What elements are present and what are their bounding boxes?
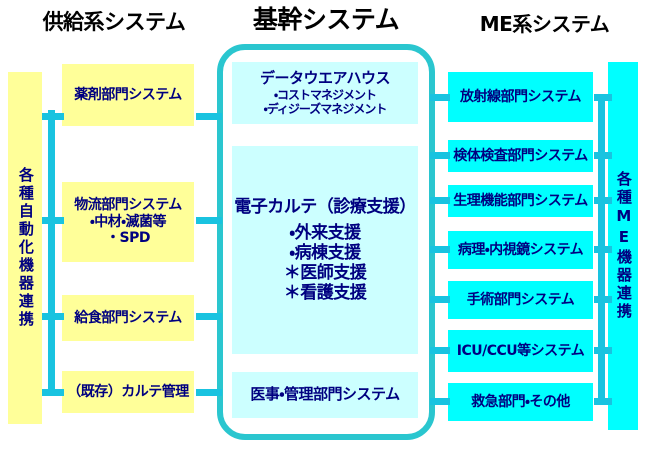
me-box-pathology-endoscope[interactable]: 病理・内視鏡システム (448, 231, 593, 269)
me-box-specimen-lab-label: 検体検査部門システム (453, 148, 588, 165)
left-vertical-bar: 各種自動化機器連携 (8, 72, 42, 424)
core-box-emr-sub4: ＊看護支援 (234, 283, 416, 303)
core-box-emr[interactable]: 電子カルテ（診療支援） ・外来支援 ・病棟支援 ＊医師支援 ＊看護支援 (232, 146, 418, 354)
diagram-canvas: 供給系システム 基幹システム ME系システム 各種自動化機器連携 各種ME機器連… (0, 0, 651, 452)
connector-catering-core (196, 313, 222, 320)
connector-physiology-bar (594, 197, 612, 204)
connector-core-radiology (430, 94, 450, 101)
me-box-specimen-lab[interactable]: 検体検査部門システム (448, 140, 593, 172)
connector-pharmacy-core (196, 113, 222, 120)
connector-core-emergency (430, 398, 450, 405)
supply-box-legacy-chart[interactable]: （既存）カルテ管理 (62, 371, 194, 413)
supply-box-logistics-sub1: ・中材・滅菌等 (74, 214, 182, 231)
connector-core-physiology (430, 197, 450, 204)
core-box-admin[interactable]: 医事・管理部門システム (232, 372, 418, 418)
me-box-emergency-other-label: 救急部門・その他 (471, 394, 570, 411)
right-vertical-bar: 各種ME機器連携 (608, 62, 638, 430)
core-box-emr-sub3: ＊医師支援 (234, 263, 416, 283)
connector-left-bar-pharmacy (42, 113, 64, 120)
supply-box-pharmacy-label: 薬剤部門システム (74, 87, 182, 104)
me-box-surgery[interactable]: 手術部門システム (448, 281, 593, 319)
supply-box-legacy-chart-label: （既存）カルテ管理 (67, 384, 189, 401)
connector-core-specimen-lab (430, 152, 450, 159)
connector-surgery-bar (594, 296, 612, 303)
core-box-datawarehouse-sub1: ・コストマネジメント (260, 88, 390, 102)
me-box-emergency-other[interactable]: 救急部門・その他 (448, 383, 593, 421)
column-title-core: 基幹システム (226, 0, 426, 36)
core-box-datawarehouse-title: データウエアハウス (260, 70, 390, 88)
me-box-pathology-endoscope-label: 病理・内視鏡システム (458, 242, 583, 259)
connector-radiology-bar (594, 94, 612, 101)
connector-left-bar-legacy (42, 389, 64, 396)
supply-box-logistics[interactable]: 物流部門システム ・中材・滅菌等 ・SPD (62, 182, 194, 262)
core-box-emr-label: 電子カルテ（診療支援） ・外来支援 ・病棟支援 ＊医師支援 ＊看護支援 (234, 197, 416, 303)
connector-specimen-lab-bar (594, 152, 612, 159)
core-box-emr-title: 電子カルテ（診療支援） (234, 197, 416, 217)
connector-left-bar-logistics (42, 217, 64, 224)
column-title-supply: 供給系システム (14, 6, 214, 36)
connector-emergency-bar (594, 398, 612, 405)
connector-legacy-core (196, 389, 222, 396)
column-title-me: ME系システム (452, 8, 637, 37)
connector-logistics-core (196, 217, 222, 224)
supply-box-logistics-title: 物流部門システム (74, 197, 182, 214)
supply-box-logistics-sub2: ・SPD (74, 230, 182, 247)
connector-icu-bar (594, 347, 612, 354)
me-box-radiology-label: 放射線部門システム (460, 89, 581, 106)
me-box-icu-ccu[interactable]: ICU/CCU等システム (448, 330, 593, 372)
me-box-radiology[interactable]: 放射線部門システム (448, 72, 593, 122)
core-box-datawarehouse-sub2: ・ディジーズマネジメント (260, 102, 390, 116)
core-box-emr-sub2: ・病棟支援 (234, 243, 416, 263)
core-box-datawarehouse-label: データウエアハウス ・コストマネジメント ・ディジーズマネジメント (260, 70, 390, 116)
connector-core-icu (430, 347, 450, 354)
core-box-datawarehouse[interactable]: データウエアハウス ・コストマネジメント ・ディジーズマネジメント (232, 62, 418, 124)
connector-core-pathology (430, 246, 450, 253)
supply-box-logistics-label: 物流部門システム ・中材・滅菌等 ・SPD (74, 197, 182, 247)
me-box-physiology-label: 生理機能部門システム (453, 193, 588, 210)
core-box-admin-label: 医事・管理部門システム (250, 386, 399, 404)
me-box-icu-ccu-label: ICU/CCU等システム (457, 343, 584, 360)
connector-core-surgery (430, 296, 450, 303)
me-box-surgery-label: 手術部門システム (467, 292, 575, 309)
left-vertical-bar-label: 各種自動化機器連携 (14, 167, 36, 329)
supply-box-catering-label: 給食部門システム (74, 310, 182, 327)
connector-left-bar-catering (42, 313, 64, 320)
supply-box-pharmacy[interactable]: 薬剤部門システム (62, 64, 194, 126)
supply-box-catering[interactable]: 給食部門システム (62, 295, 194, 341)
me-box-physiology[interactable]: 生理機能部門システム (448, 185, 593, 217)
core-box-emr-sub1: ・外来支援 (234, 223, 416, 243)
right-vertical-bar-label: 各種ME機器連携 (612, 171, 634, 321)
connector-pathology-bar (594, 246, 612, 253)
left-trunk-line (48, 110, 55, 390)
